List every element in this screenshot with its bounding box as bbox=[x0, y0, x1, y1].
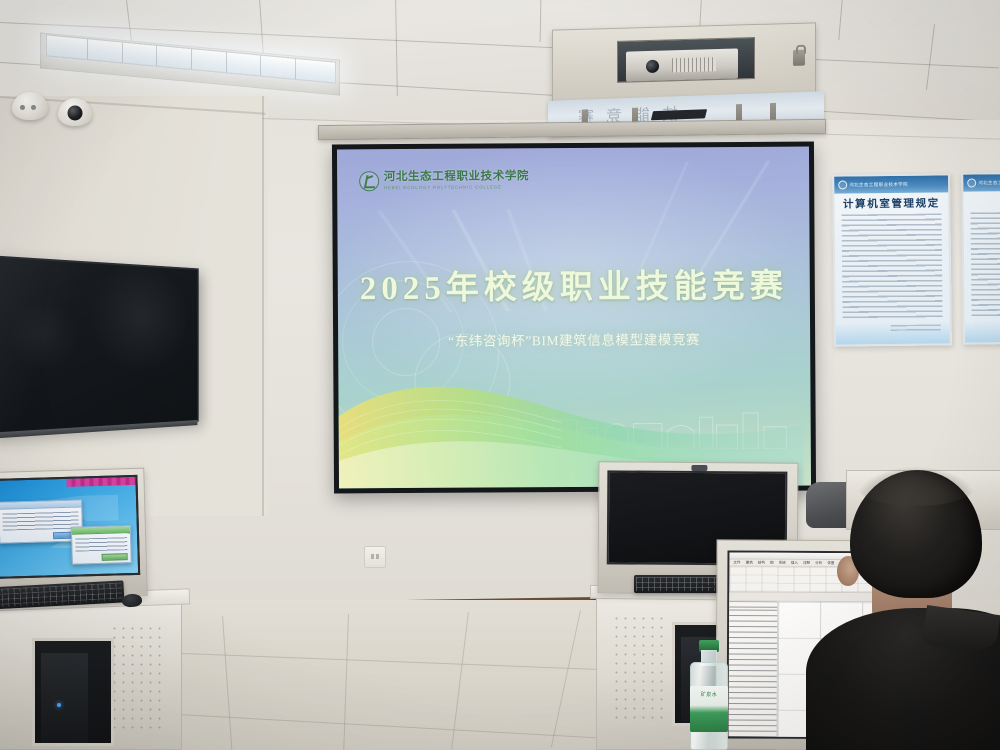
wall-power-outlet[interactable] bbox=[364, 546, 386, 568]
reflected-bar bbox=[651, 109, 707, 120]
menu-item[interactable]: 结构 bbox=[758, 560, 765, 565]
logo-name-en: HEBEI ECOLOGY POLYTECHNIC COLLEGE bbox=[384, 185, 529, 190]
college-seal-icon bbox=[967, 178, 976, 187]
power-led-icon bbox=[57, 703, 61, 707]
poster-title: 计算机 bbox=[963, 193, 1000, 209]
poster-org-name: 河北生态工程职业技术学院 bbox=[849, 181, 908, 188]
college-seal-icon bbox=[838, 180, 847, 189]
menu-item[interactable]: 钢 bbox=[770, 560, 774, 565]
poster-wave-decor bbox=[965, 319, 1000, 342]
bottle-brand-text: 矿泉水 bbox=[690, 691, 728, 698]
logo-mark-icon bbox=[359, 171, 379, 191]
poster-body-text bbox=[971, 211, 1000, 316]
dialog-content-lines bbox=[75, 537, 127, 552]
monitor-webcam-icon bbox=[691, 465, 707, 471]
person-hair-highlight bbox=[856, 466, 976, 506]
desk-center-vent-panel bbox=[612, 614, 664, 722]
logo-name-cn: 河北生态工程职业技术学院 bbox=[384, 171, 529, 183]
dialog-ok-button[interactable] bbox=[102, 554, 128, 562]
projector-vents bbox=[672, 57, 716, 72]
menu-item[interactable]: 插入 bbox=[791, 560, 798, 565]
pc-tower bbox=[41, 653, 88, 743]
pc-compartment-left bbox=[32, 638, 114, 746]
poster-org-name: 河北生态工程职业技术学院 bbox=[978, 179, 1000, 186]
slide-title: 2025年校级职业技能竞赛 bbox=[338, 258, 810, 309]
poster-wave-decor bbox=[836, 321, 950, 344]
windows-desktop bbox=[0, 477, 138, 577]
classroom-scene: 技能竞赛 河北生态工程职业技术学院 HEBEI ECOLOGY POLYTECH… bbox=[0, 0, 1000, 750]
projector bbox=[626, 48, 738, 81]
dialog-window-secondary[interactable] bbox=[71, 525, 132, 565]
slide-subtitle: “东纬咨询杯”BIM建筑信息模型建模竞赛 bbox=[338, 328, 810, 351]
projection-screen: 河北生态工程职业技术学院 HEBEI ECOLOGY POLYTECHNIC C… bbox=[332, 142, 816, 494]
menu-item[interactable]: 建筑 bbox=[746, 560, 753, 565]
dialog-titlebar[interactable] bbox=[72, 526, 130, 535]
poster-header: 河北生态工程职业技术学院 bbox=[834, 175, 948, 193]
security-camera-icon bbox=[58, 98, 92, 126]
monitor-housing-left: PHILIPS bbox=[0, 468, 148, 601]
desk-left-vent-panel bbox=[110, 624, 166, 734]
bottle-label: 矿泉水 bbox=[690, 686, 728, 732]
poster-header: 河北生态工程职业技术学院 bbox=[963, 173, 1000, 191]
poster-title: 计算机室管理规定 bbox=[834, 195, 948, 211]
water-bottle[interactable]: 矿泉水 bbox=[690, 640, 728, 750]
poster-body-text bbox=[842, 213, 943, 318]
notification-banner bbox=[66, 477, 135, 487]
projector-viewport bbox=[617, 37, 755, 83]
college-logo: 河北生态工程职业技术学院 HEBEI ECOLOGY POLYTECHNIC C… bbox=[359, 170, 529, 191]
display-reflection bbox=[0, 257, 197, 433]
dialog-content-lines bbox=[2, 512, 78, 531]
dialog-titlebar[interactable] bbox=[0, 501, 81, 510]
security-camera-icon bbox=[12, 92, 48, 120]
wall-mounted-display[interactable] bbox=[0, 255, 199, 435]
presentation-slide: 河北生态工程职业技术学院 HEBEI ECOLOGY POLYTECHNIC C… bbox=[337, 147, 811, 489]
seated-student bbox=[820, 470, 1000, 750]
wall-poster-secondary: 河北生态工程职业技术学院 计算机 bbox=[961, 171, 1000, 344]
menu-item[interactable]: 注释 bbox=[803, 560, 810, 565]
wall-poster-rules: 河北生态工程职业技术学院 计算机室管理规定 bbox=[832, 173, 952, 346]
menu-item[interactable]: 系统 bbox=[779, 560, 786, 565]
menu-item[interactable]: 文件 bbox=[733, 560, 740, 565]
project-browser-panel[interactable] bbox=[729, 602, 779, 737]
padlock-icon bbox=[793, 50, 805, 66]
projector-lens-icon bbox=[646, 60, 659, 73]
monitor-screen-left[interactable] bbox=[0, 475, 140, 579]
